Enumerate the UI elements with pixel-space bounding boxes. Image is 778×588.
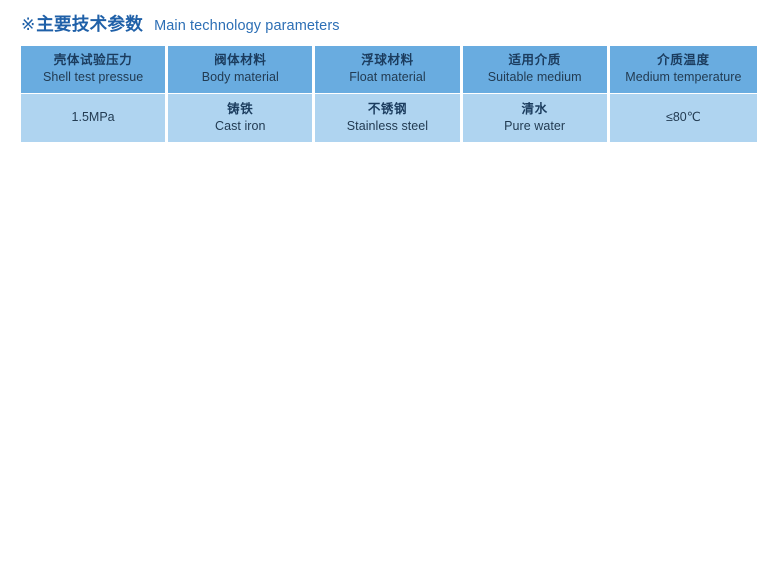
- table-header-cell-shell-test-pressure: 壳体试验压力 Shell test pressue: [21, 46, 168, 93]
- header-label-cn: 浮球材料: [319, 52, 455, 69]
- header-label-en: Medium temperature: [614, 69, 753, 86]
- header-label-cn: 阀体材料: [172, 52, 308, 69]
- table-cell-body-material-value: 铸铁 Cast iron: [168, 93, 315, 142]
- table-header-row: 壳体试验压力 Shell test pressue 阀体材料 Body mate…: [21, 46, 757, 93]
- table-cell-suitable-medium-value: 清水 Pure water: [463, 93, 610, 142]
- header-label-en: Shell test pressue: [25, 69, 161, 86]
- cell-value-en: Stainless steel: [319, 118, 455, 135]
- header-label-cn: 适用介质: [467, 52, 603, 69]
- header-label-cn: 介质温度: [614, 52, 753, 69]
- table-header-cell-body-material: 阀体材料 Body material: [168, 46, 315, 93]
- page-root: ※ 主要技术参数 Main technology parameters 壳体试验…: [0, 0, 778, 588]
- reference-mark-icon: ※: [21, 15, 35, 35]
- cell-value-en: Cast iron: [172, 118, 308, 135]
- cell-value: 1.5MPa: [25, 109, 161, 126]
- section-title-en: Main technology parameters: [154, 16, 340, 36]
- table-header-cell-float-material: 浮球材料 Float material: [315, 46, 462, 93]
- table-cell-medium-temperature-value: ≤80℃: [610, 93, 757, 142]
- table-body: 1.5MPa 铸铁 Cast iron 不锈钢 Stainless steel …: [21, 93, 757, 142]
- table-row: 1.5MPa 铸铁 Cast iron 不锈钢 Stainless steel …: [21, 93, 757, 142]
- cell-value: ≤80℃: [614, 109, 753, 126]
- table-header-cell-suitable-medium: 适用介质 Suitable medium: [463, 46, 610, 93]
- main-technology-parameters-table: 壳体试验压力 Shell test pressue 阀体材料 Body mate…: [21, 46, 757, 142]
- section-heading: ※ 主要技术参数 Main technology parameters: [21, 14, 340, 36]
- cell-value-cn: 不锈钢: [319, 101, 455, 118]
- table-cell-shell-test-pressure-value: 1.5MPa: [21, 93, 168, 142]
- table-cell-float-material-value: 不锈钢 Stainless steel: [315, 93, 462, 142]
- header-label-cn: 壳体试验压力: [25, 52, 161, 69]
- section-title-cn: 主要技术参数: [36, 14, 143, 34]
- cell-value-en: Pure water: [467, 118, 603, 135]
- header-label-en: Float material: [319, 69, 455, 86]
- table-header: 壳体试验压力 Shell test pressue 阀体材料 Body mate…: [21, 46, 757, 93]
- header-label-en: Suitable medium: [467, 69, 603, 86]
- header-label-en: Body material: [172, 69, 308, 86]
- table-header-cell-medium-temperature: 介质温度 Medium temperature: [610, 46, 757, 93]
- cell-value-cn: 清水: [467, 101, 603, 118]
- cell-value-cn: 铸铁: [172, 101, 308, 118]
